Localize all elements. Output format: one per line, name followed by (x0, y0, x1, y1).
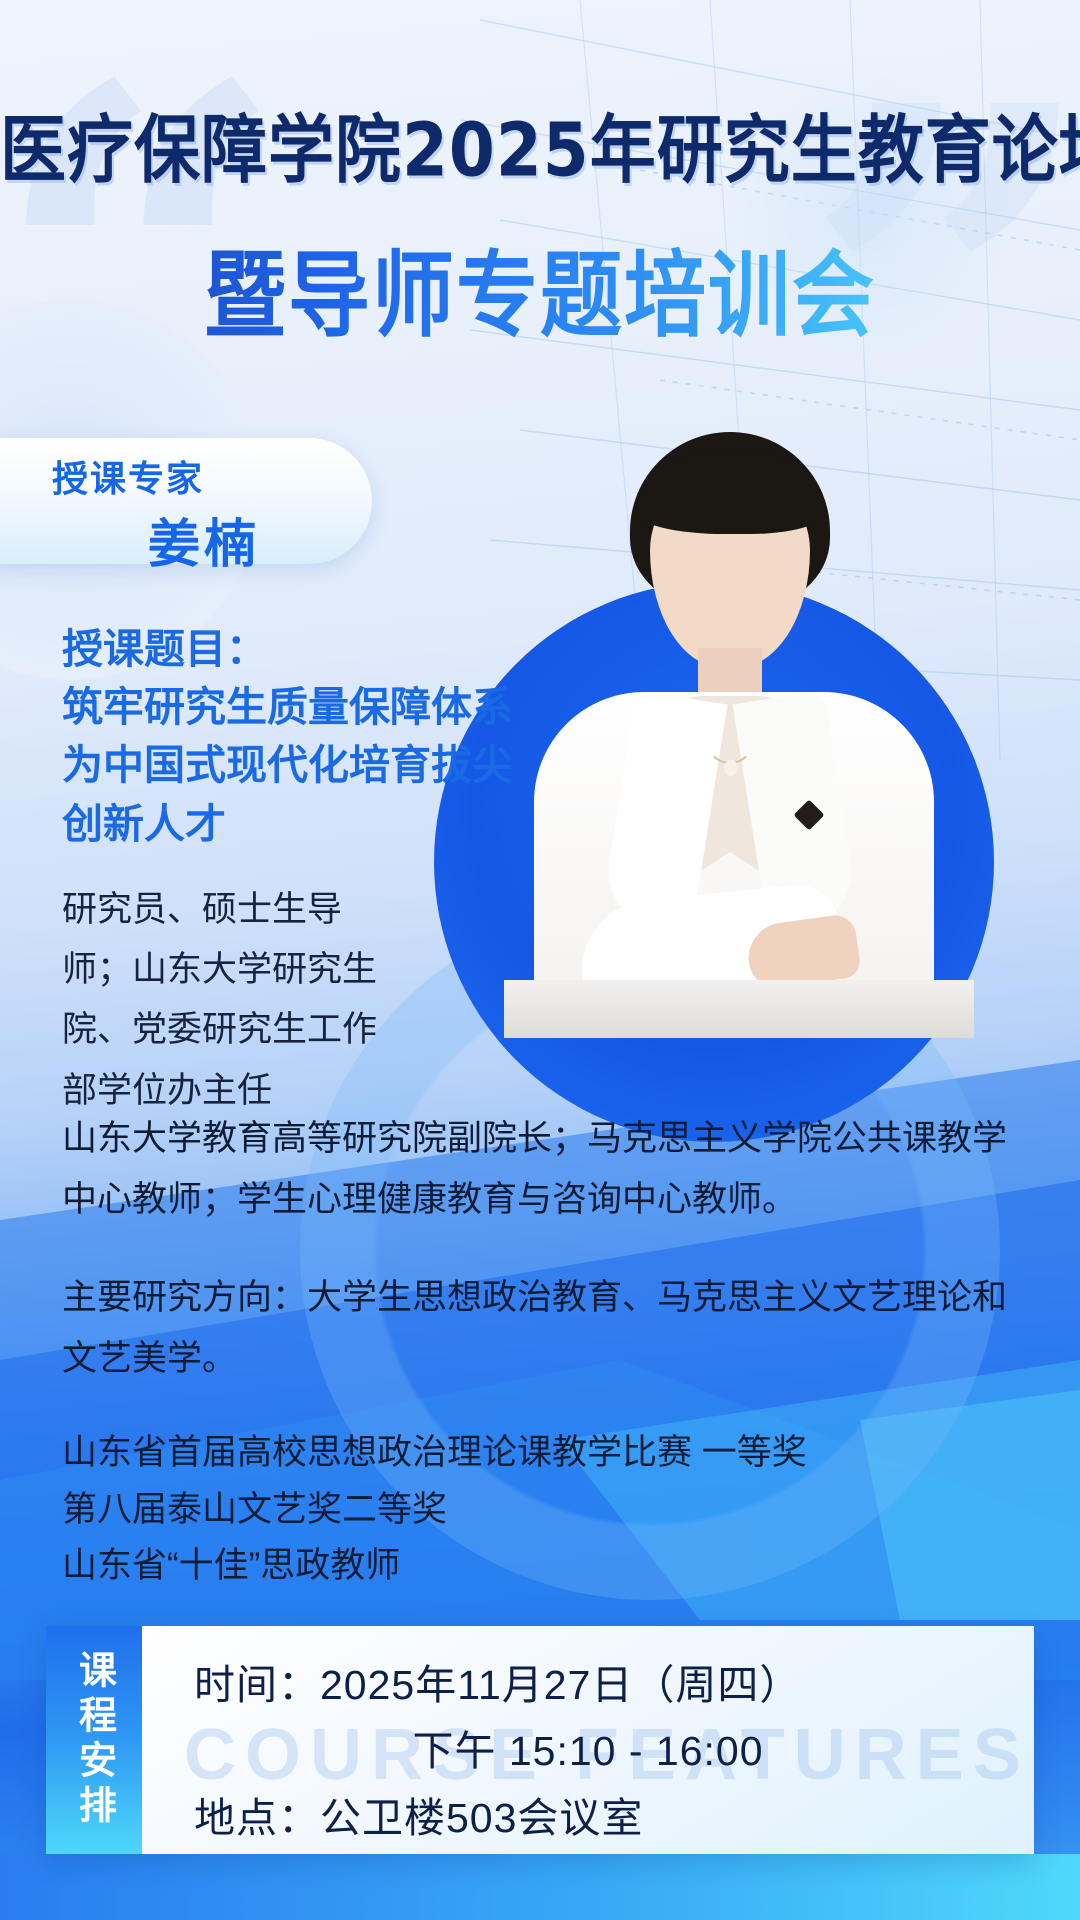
award-line-2: 第八届泰山文艺奖二等奖 (62, 1482, 1022, 1539)
desk-surface (504, 980, 974, 1038)
schedule-hours-line: 下午 15:10 - 16:00 (172, 1718, 1004, 1784)
course-title-line-3: 创新人才 (62, 795, 582, 853)
schedule-time-line: 时间：2025年11月27日（周四） (172, 1652, 1004, 1718)
schedule-tab-label: 课程安排 (67, 1650, 122, 1830)
schedule-place-line: 地点：公卫楼503会议室 (172, 1785, 1004, 1851)
bio-paragraph-1: 山东大学教育高等研究院副院长；马克思主义学院公共课教学中心教师；学生心理健康教育… (62, 1108, 1022, 1231)
bio-wide-block: 山东大学教育高等研究院副院长；马克思主义学院公共课教学中心教师；学生心理健康教育… (62, 1108, 1022, 1595)
bio-narrow-line-2: 师；山东大学研究生 (62, 940, 462, 1000)
award-line-1: 山东省首届高校思想政治理论课教学比赛 一等奖 (62, 1425, 1022, 1482)
title-block: 医疗保障学院2025年研究生教育论坛 暨导师专题培训会 (0, 96, 1080, 347)
schedule-lines: 时间：2025年11月27日（周四） 下午 15:10 - 16:00 地点：公… (142, 1652, 1034, 1851)
schedule-panel: 课程安排 COURSE FEATURES 时间：2025年11月27日（周四） … (46, 1626, 1034, 1854)
bio-narrow-line-3: 院、党委研究生工作 (62, 1000, 462, 1060)
necklace-shape (706, 706, 754, 764)
page-subtitle: 暨导师专题培训会 (0, 220, 1080, 356)
course-title-block: 授课题目： 筑牢研究生质量保障体系 为中国式现代化培育拔尖 创新人才 (62, 620, 582, 853)
course-title-line-1: 筑牢研究生质量保障体系 (62, 678, 582, 736)
expert-name: 姜楠 (148, 502, 260, 577)
page-title: 医疗保障学院2025年研究生教育论坛 (0, 90, 1080, 198)
bio-narrow-line-1: 研究员、硕士生导 (62, 880, 462, 940)
pearl-pendant (724, 760, 738, 776)
expert-role-label: 授课专家 (52, 450, 204, 502)
schedule-body: COURSE FEATURES 时间：2025年11月27日（周四） 下午 15… (142, 1626, 1034, 1854)
schedule-tab: 课程安排 (46, 1626, 142, 1854)
award-line-3: 山东省“十佳”思政教师 (62, 1538, 1022, 1595)
poster-canvas: “ ” (0, 0, 1080, 1920)
bio-narrow-block: 研究员、硕士生导 师；山东大学研究生 院、党委研究生工作 部学位办主任 (62, 880, 462, 1121)
course-title-heading: 授课题目： (62, 620, 582, 678)
bottom-edge-bar (0, 1854, 1080, 1920)
bio-paragraph-2: 主要研究方向：大学生思想政治教育、马克思主义文艺理论和文艺美学。 (62, 1267, 1022, 1390)
course-title-line-2: 为中国式现代化培育拔尖 (62, 736, 582, 794)
